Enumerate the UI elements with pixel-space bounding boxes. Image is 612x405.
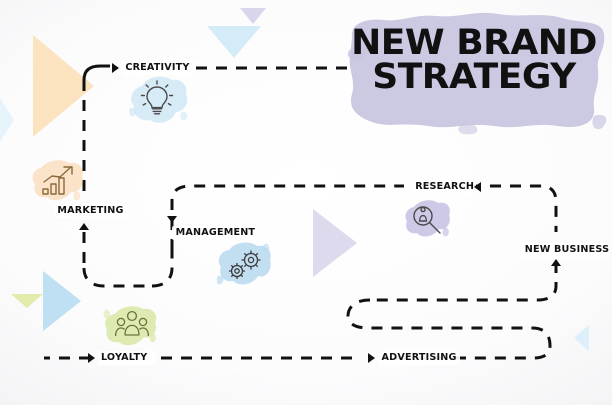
- infographic-canvas: NEW BRAND STRATEGY: [0, 0, 612, 405]
- line-management-to-research: [172, 186, 404, 250]
- node-label-advertising[interactable]: ADVERTISING: [382, 352, 457, 363]
- node-label-research[interactable]: RESEARCH: [415, 181, 474, 192]
- line-creativity-hook: [84, 66, 110, 80]
- line-research-to-newbusiness: [470, 186, 556, 232]
- line-newbusiness-down: [370, 262, 556, 300]
- node-label-management[interactable]: MANAGEMENT: [176, 227, 256, 238]
- line-serpentine-to-advertising: [466, 328, 550, 358]
- node-label-marketing[interactable]: MARKETING: [57, 205, 123, 216]
- flow-diagram-lines: [0, 0, 612, 405]
- line-marketing-to-management: [84, 268, 152, 286]
- line-management-riser: [152, 250, 172, 286]
- line-serpentine-uturn: [348, 300, 532, 328]
- node-label-new-business[interactable]: NEW BUSINESS: [525, 244, 609, 255]
- node-label-loyalty[interactable]: LOYALTY: [101, 352, 147, 363]
- node-label-creativity[interactable]: CREATIVITY: [125, 62, 189, 73]
